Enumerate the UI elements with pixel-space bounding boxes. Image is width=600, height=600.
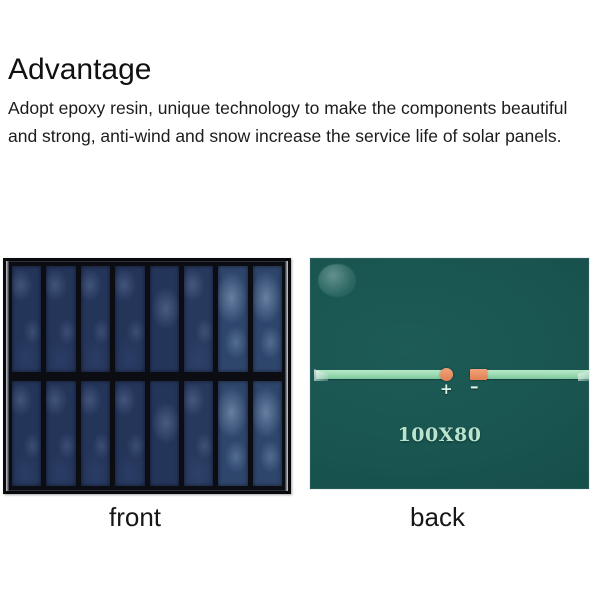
solar-cell bbox=[150, 266, 179, 372]
page-title: Advantage bbox=[8, 52, 592, 88]
solar-cell bbox=[218, 266, 247, 372]
solar-cell bbox=[115, 266, 144, 372]
solar-cell bbox=[81, 266, 110, 372]
polarity-plus-label: + bbox=[440, 382, 453, 397]
solar-cell bbox=[150, 381, 179, 487]
resin-blob bbox=[318, 264, 356, 297]
busbar-negative bbox=[470, 370, 589, 379]
figure-back: + – 100X80 back bbox=[310, 258, 589, 489]
solar-cell bbox=[12, 381, 41, 487]
busbar-positive bbox=[316, 370, 453, 379]
solar-cell bbox=[184, 266, 213, 372]
solar-panel-back-image: + – 100X80 bbox=[310, 258, 589, 489]
solar-cell bbox=[253, 381, 282, 487]
section-description: Adopt epoxy resin, unique technology to … bbox=[8, 94, 588, 150]
solar-cell bbox=[115, 381, 144, 487]
product-figures: front + – 100X80 back bbox=[0, 258, 600, 558]
polarity-minus-label: – bbox=[470, 380, 479, 395]
figure-caption-front: front bbox=[0, 501, 279, 533]
solar-cell-grid bbox=[12, 266, 282, 486]
solar-panel-front-image bbox=[3, 258, 291, 494]
solar-cell bbox=[46, 266, 75, 372]
solar-cell bbox=[184, 381, 213, 487]
panel-size-label: 100X80 bbox=[310, 424, 579, 446]
advantage-section: Advantage Adopt epoxy resin, unique tech… bbox=[8, 52, 592, 150]
solar-cell bbox=[218, 381, 247, 487]
figure-front: front bbox=[3, 258, 291, 494]
solar-cell bbox=[12, 266, 41, 372]
figure-caption-back: back bbox=[298, 501, 577, 533]
solar-cell bbox=[46, 381, 75, 487]
solar-cell bbox=[81, 381, 110, 487]
solar-cell bbox=[253, 266, 282, 372]
